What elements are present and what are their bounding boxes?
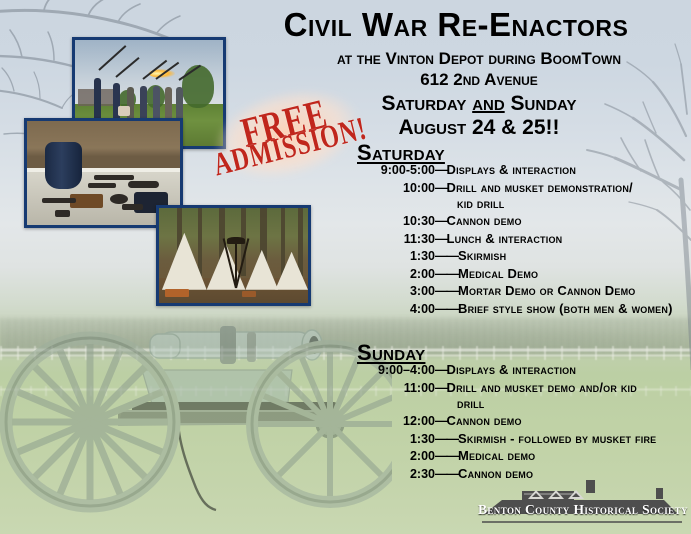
schedule-description: Medical demo xyxy=(458,449,691,464)
schedule-dash: —— xyxy=(435,249,458,263)
schedule-time: 1:30 xyxy=(373,249,435,263)
subtitle-days-after: Sunday xyxy=(505,92,577,115)
schedule-row: 12:00—Cannon demo xyxy=(373,414,691,429)
schedule-description: Displays & interaction xyxy=(447,363,691,378)
schedule-row: 2:00——Medical Demo xyxy=(373,267,691,282)
schedule-time: 11:30 xyxy=(373,232,435,246)
schedule-time: 11:00 xyxy=(373,381,435,395)
schedule-time: 3:00 xyxy=(373,284,435,298)
schedule-row: 10:00—Drill and musket demonstration/ xyxy=(373,181,691,196)
schedule-row: 11:00—Drill and musket demo and/or kid xyxy=(373,381,691,396)
benton-county-historical-society-logo: Benton County Historical Society xyxy=(478,478,686,528)
schedule-time: 1:30 xyxy=(373,432,435,446)
schedule-dash: —— xyxy=(435,284,458,298)
schedule-dash: — xyxy=(435,214,447,228)
schedule-row: 4:00——Brief style show (both men & women… xyxy=(373,302,691,317)
schedule-description: Cannon demo xyxy=(447,414,691,429)
schedule-time: 9:00-5:00 xyxy=(373,163,435,177)
schedule-dash: — xyxy=(435,414,447,428)
schedule-dash: —— xyxy=(435,449,458,463)
schedule-dash: — xyxy=(435,181,447,195)
schedule-row: 1:30——Skirmish xyxy=(373,249,691,264)
schedule-description: Brief style show (both men & women) xyxy=(458,302,691,317)
sunday-schedule-list: 9:00–4:00—Displays & interaction11:00—Dr… xyxy=(373,363,691,484)
subtitle-venue: at the Vinton Depot during BoomTown xyxy=(270,50,688,68)
logo-name: Benton County Historical Society xyxy=(478,502,686,518)
schedule-row: 2:00——Medical demo xyxy=(373,449,691,464)
schedule-dash: — xyxy=(435,363,447,377)
schedule-description: Lunch & interaction xyxy=(447,232,691,247)
schedule-description: Cannon demo xyxy=(447,214,691,229)
schedule-row: 1:30——Skirmish - followed by musket fire xyxy=(373,432,691,447)
schedule-description: Mortar Demo or Cannon Demo xyxy=(458,284,691,299)
schedule-description: Drill and musket demo and/or kid xyxy=(447,381,691,396)
schedule-dash: —— xyxy=(435,302,458,316)
schedule-time: 10:00 xyxy=(373,181,435,195)
poster-text: Civil War Re-Enactors at the Vinton Depo… xyxy=(0,0,691,534)
schedule-time: 2:00 xyxy=(373,449,435,463)
schedule-row: 3:00——Mortar Demo or Cannon Demo xyxy=(373,284,691,299)
schedule-dash: —— xyxy=(435,267,458,281)
schedule-time: 12:00 xyxy=(373,414,435,428)
schedule-time: 10:30 xyxy=(373,214,435,228)
schedule-description: Drill and musket demonstration/ xyxy=(447,181,691,196)
schedule-time: 2:30 xyxy=(373,467,435,481)
schedule-row: 10:30—Cannon demo xyxy=(373,214,691,229)
schedule-dash: — xyxy=(435,163,447,177)
schedule-time: 9:00–4:00 xyxy=(373,363,435,377)
schedule-description: Skirmish - followed by musket fire xyxy=(458,432,691,447)
schedule-description-continued: kid drill xyxy=(457,196,691,211)
subtitle-days-and: and xyxy=(472,92,505,115)
subtitle-days: Saturday and Sunday xyxy=(270,92,688,116)
subtitle-days-before: Saturday xyxy=(382,92,473,115)
schedule-time: 4:00 xyxy=(373,302,435,316)
schedule-description-continued: drill xyxy=(457,396,691,411)
schedule-description: Displays & interaction xyxy=(447,163,691,178)
saturday-schedule-list: 9:00-5:00—Displays & interaction10:00—Dr… xyxy=(373,163,691,319)
schedule-row: 9:00-5:00—Displays & interaction xyxy=(373,163,691,178)
schedule-time: 2:00 xyxy=(373,267,435,281)
schedule-dash: — xyxy=(435,381,447,395)
schedule-row: 9:00–4:00—Displays & interaction xyxy=(373,363,691,378)
schedule-description: Medical Demo xyxy=(458,267,691,282)
subtitle-address: 612 2nd Avenue xyxy=(270,70,688,90)
logo-underline xyxy=(482,521,682,523)
schedule-dash: —— xyxy=(435,432,458,446)
page-title: Civil War Re-Enactors xyxy=(225,8,687,41)
poster-canvas: FREE ADMISSION! Civil War Re-Enactors at… xyxy=(0,0,691,534)
schedule-dash: — xyxy=(435,232,447,246)
subtitle-dates: August 24 & 25!! xyxy=(270,116,688,140)
schedule-row: 11:30—Lunch & interaction xyxy=(373,232,691,247)
schedule-dash: —— xyxy=(435,467,458,481)
schedule-description: Skirmish xyxy=(458,249,691,264)
